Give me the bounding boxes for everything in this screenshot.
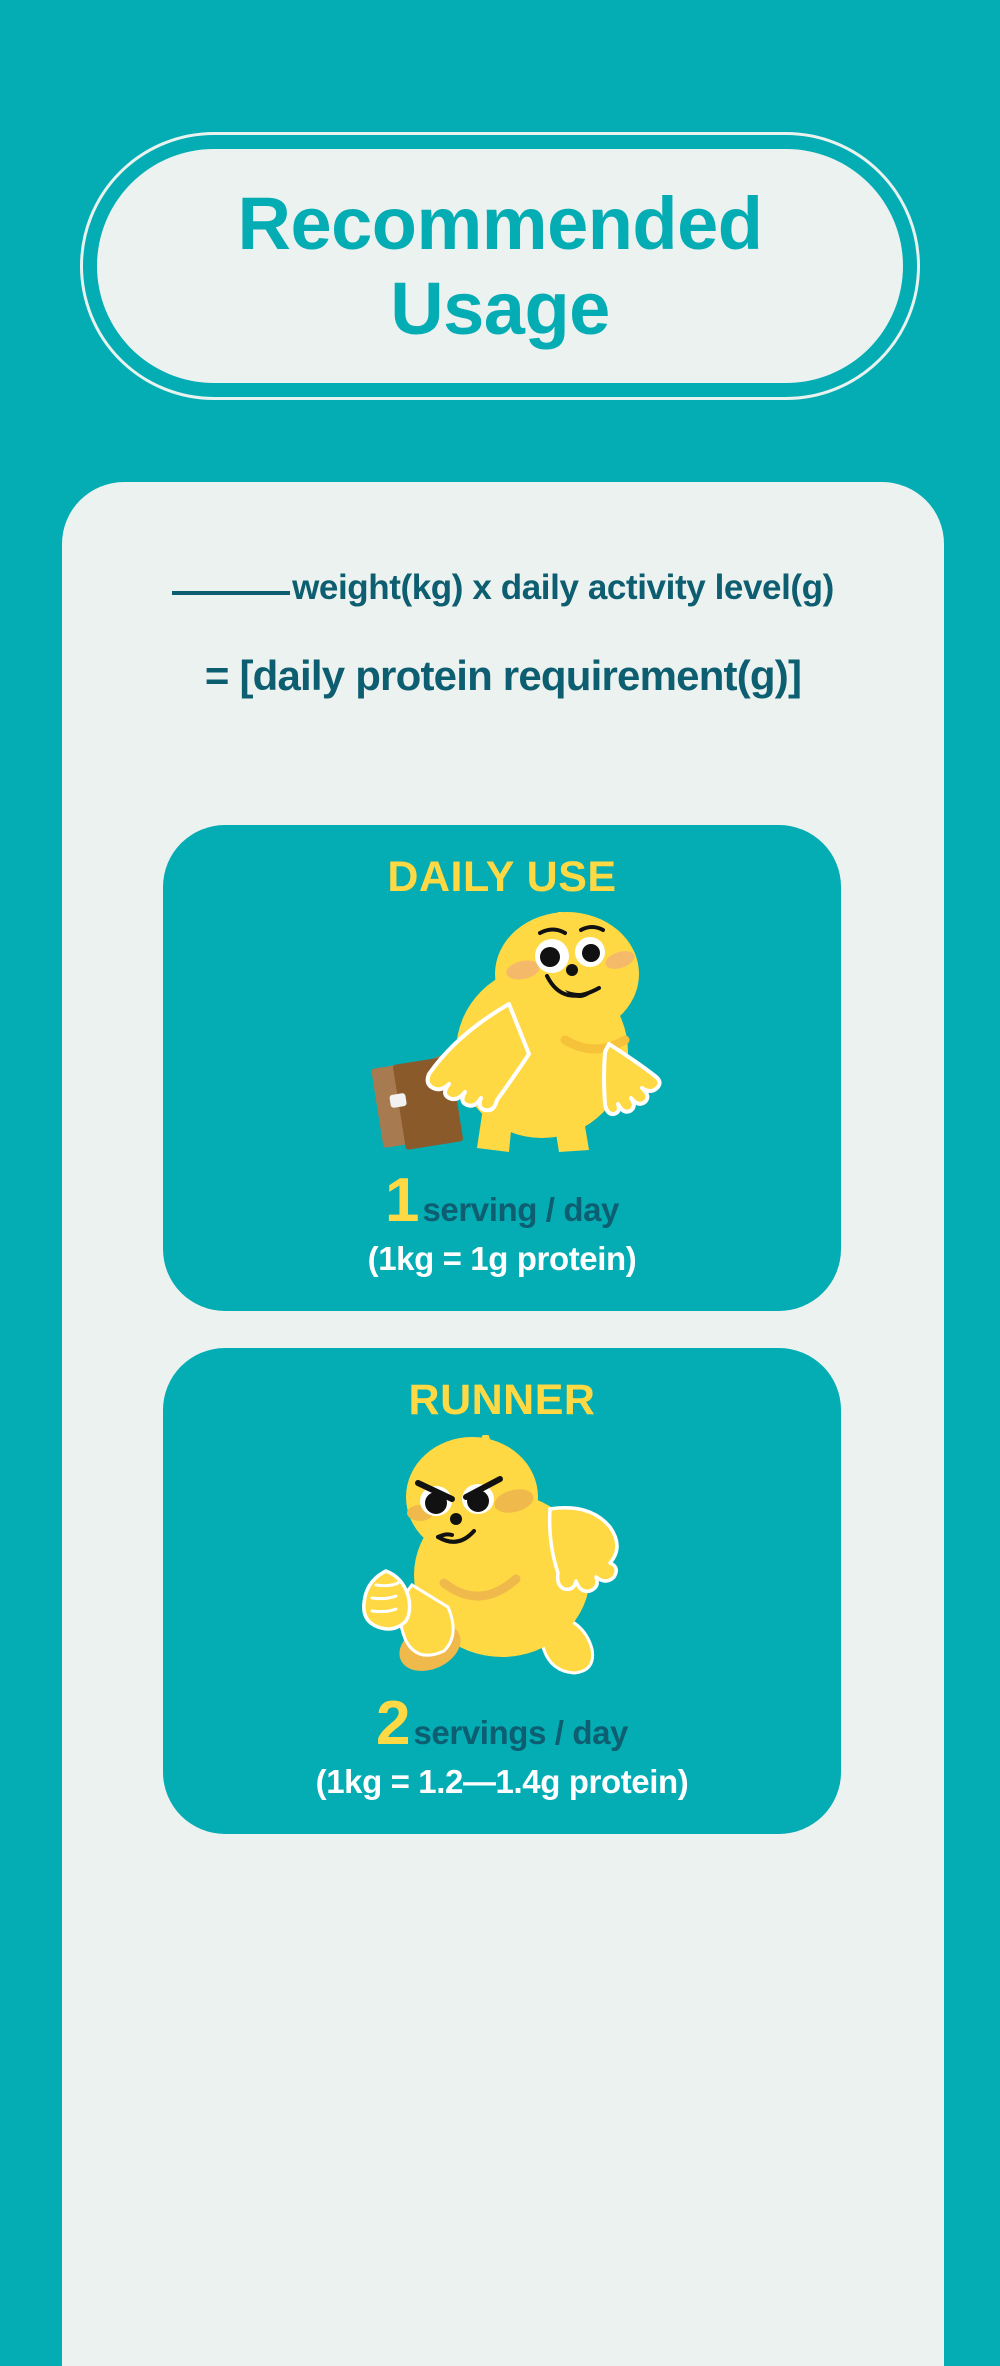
formula-line-1-text: weight(kg) x daily activity level(g) [292,568,834,607]
serving-note-runner: (1kg = 1.2—1.4g protein) [163,1763,841,1801]
serving-number-runner: 2 [376,1693,410,1755]
serving-row-runner: 2 servings / day [163,1693,841,1755]
serving-number-daily: 1 [385,1170,419,1232]
chick-running-icon [352,1435,652,1685]
serving-row-daily: 1 serving / day [163,1170,841,1232]
page-title: Recommended Usage [238,181,763,351]
header-badge-inner: Recommended Usage [97,149,903,383]
serving-label-runner: servings / day [413,1714,628,1752]
card-title-runner: RUNNER [163,1348,841,1425]
card-title-daily: DAILY USE [163,825,841,902]
formula-line-2: = [daily protein requirement(g)] [62,652,944,700]
serving-label-daily: serving / day [422,1191,619,1229]
serving-note-daily: (1kg = 1g protein) [163,1240,841,1278]
chick-with-briefcase-icon [337,912,667,1162]
usage-card-runner: RUNNER [163,1348,841,1834]
formula-line-1: weight(kg) x daily activity level(g) [62,568,944,608]
usage-card-daily: DAILY USE [163,825,841,1311]
mascot-daily-wrap [163,902,841,1172]
formula-blank-field [172,591,290,595]
formula-block: weight(kg) x daily activity level(g) = [… [62,568,944,700]
content-panel: weight(kg) x daily activity level(g) = [… [62,482,944,2366]
mascot-runner-wrap [163,1425,841,1695]
header-badge: Recommended Usage [80,132,920,400]
